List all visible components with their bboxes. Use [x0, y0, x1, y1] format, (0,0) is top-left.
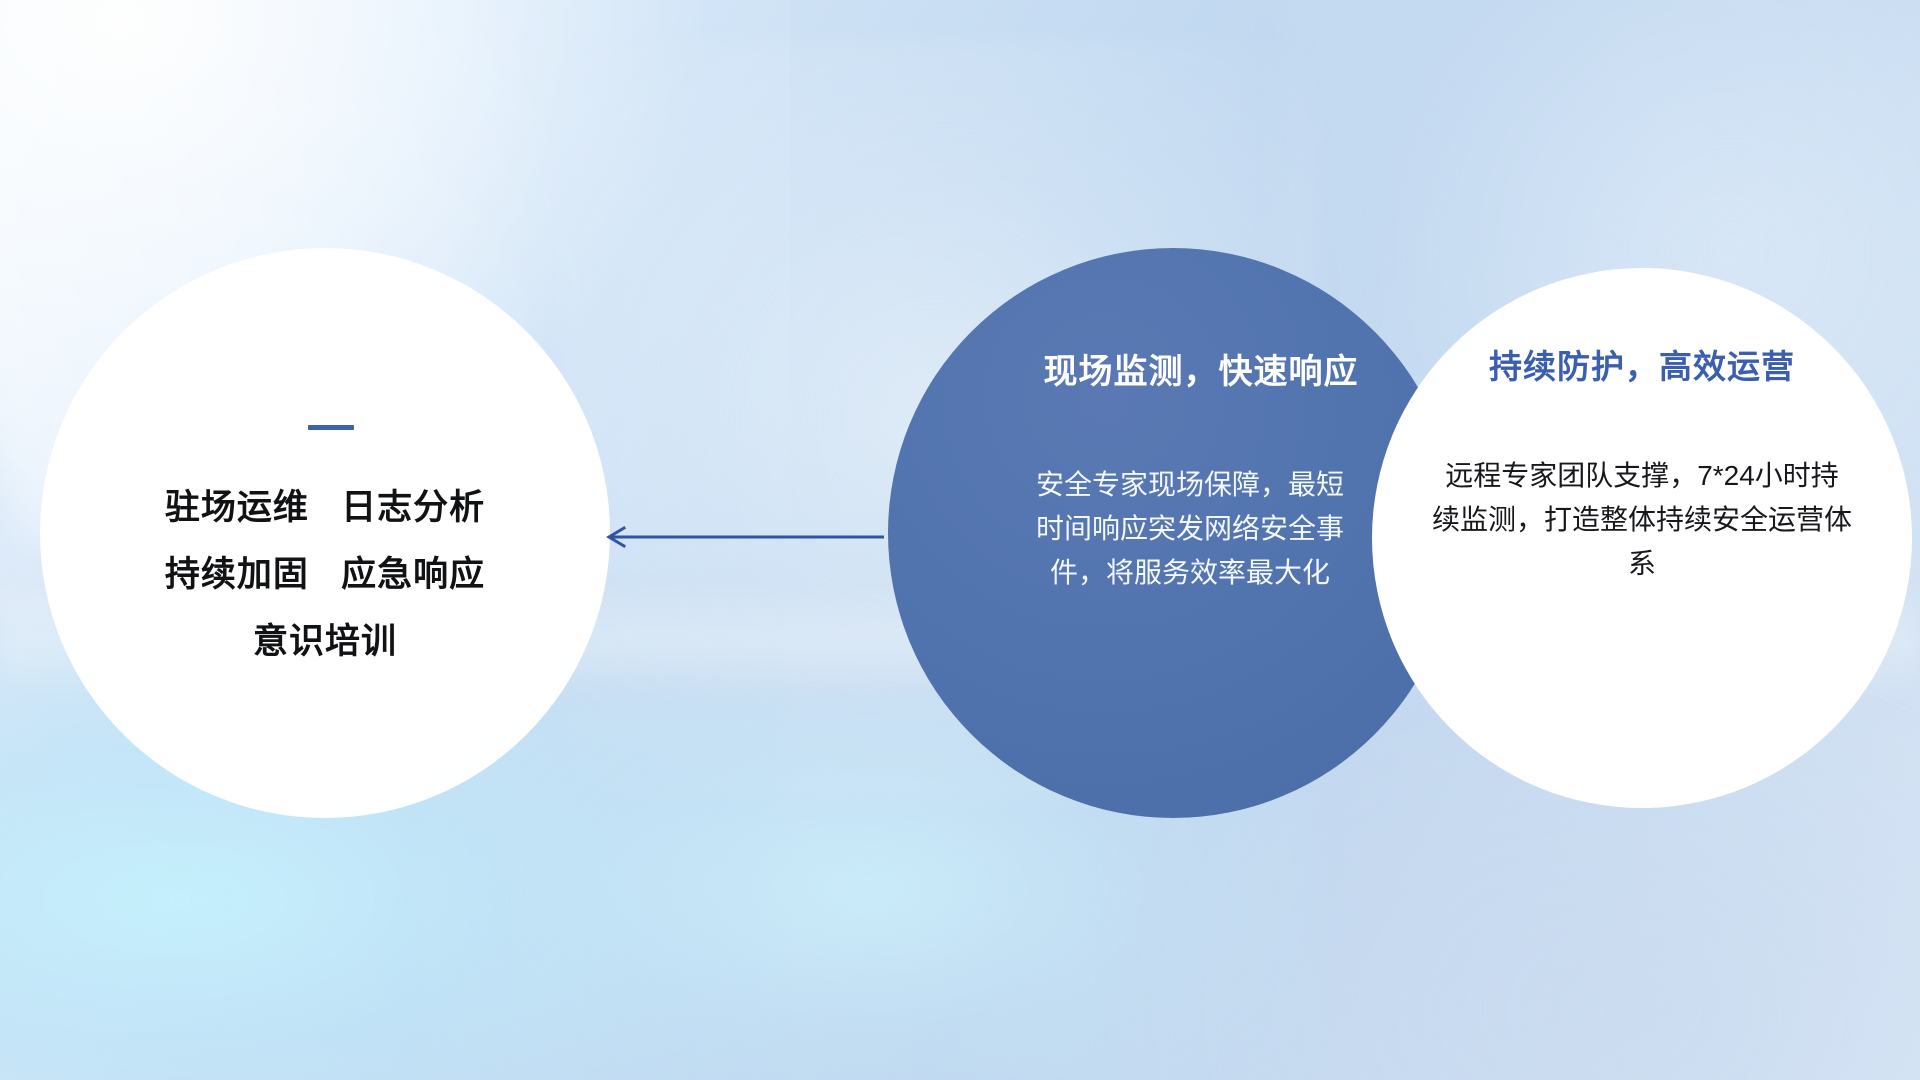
right-circle-title: 持续防护，高效运营 — [1489, 340, 1795, 388]
left-keyword-circle[interactable]: 驻场运维 日志分析 持续加固 应急响应 意识培训 — [40, 248, 610, 818]
divider-dash — [308, 425, 354, 430]
middle-circle-title: 现场监测，快速响应 — [1044, 344, 1359, 393]
middle-circle-body: 安全专家现场保障，最短时间响应突发网络安全事件，将服务效率最大化 — [1025, 463, 1355, 596]
left-keyword-line-1: 驻场运维 日志分析 — [165, 490, 485, 525]
arrow-left-connector — [596, 524, 886, 550]
left-keyword-list: 驻场运维 日志分析 持续加固 应急响应 意识培训 — [165, 490, 485, 659]
right-circle-body: 远程专家团队支撑，7*24小时持续监测，打造整体持续安全运营体系 — [1432, 454, 1852, 587]
left-keyword-line-2: 持续加固 应急响应 — [165, 557, 485, 592]
right-info-circle[interactable]: 持续防护，高效运营 远程专家团队支撑，7*24小时持续监测，打造整体持续安全运营… — [1372, 268, 1912, 808]
right-circle-content: 持续防护，高效运营 远程专家团队支撑，7*24小时持续监测，打造整体持续安全运营… — [1372, 268, 1912, 808]
left-circle-content: 驻场运维 日志分析 持续加固 应急响应 意识培训 — [40, 248, 610, 818]
left-keyword-line-3: 意识培训 — [165, 624, 485, 659]
slide-canvas: 驻场运维 日志分析 持续加固 应急响应 意识培训 现场监测，快速响应 安全专家现… — [0, 0, 1920, 1080]
